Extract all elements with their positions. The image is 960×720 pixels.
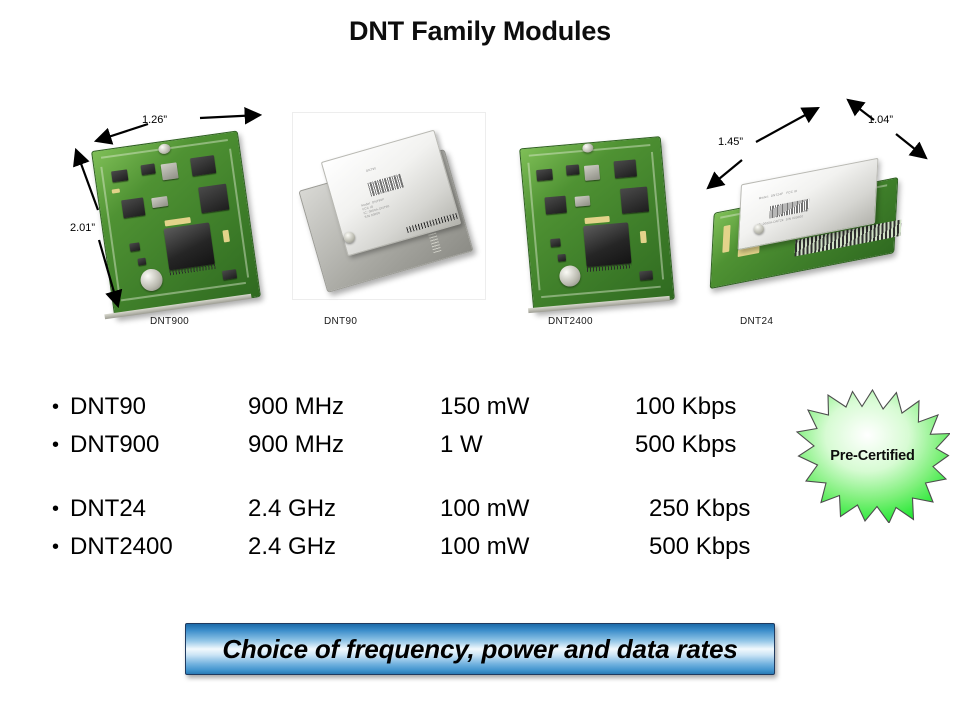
starburst-icon — [795, 388, 950, 523]
spec-frequency: 2.4 GHz — [248, 528, 336, 566]
spec-model: DNT24 — [70, 490, 146, 528]
bullet-icon: • — [52, 426, 68, 464]
spec-data-rate: 250 Kbps — [649, 490, 750, 528]
spec-frequency: 2.4 GHz — [248, 490, 336, 528]
module-caption-dnt2400: DNT2400 — [548, 316, 593, 327]
dnt24-height-dimension-arrow — [838, 96, 948, 176]
spec-row-spacer — [52, 464, 792, 490]
dnt24-height-label: 1.04” — [868, 114, 893, 126]
spec-frequency: 900 MHz — [248, 426, 344, 464]
module-caption-dnt90: DNT90 — [324, 316, 357, 327]
spec-row-dnt24: • DNT24 2.4 GHz 100 mW 250 Kbps — [52, 490, 792, 528]
module-dnt900[interactable]: 1.26” 2.01” DNT900 — [60, 96, 290, 336]
spec-model: DNT90 — [70, 388, 146, 426]
pre-certified-badge: Pre-Certified — [795, 388, 950, 523]
spec-power: 150 mW — [440, 388, 529, 426]
module-caption-dnt24: DNT24 — [740, 316, 773, 327]
module-gallery: 1.26” 2.01” DNT900 — [0, 96, 960, 336]
slide-canvas: DNT Family Modules — [0, 0, 960, 720]
dnt2400-board-image — [522, 140, 682, 320]
spec-data-rate: 500 Kbps — [649, 528, 750, 566]
bullet-icon: • — [52, 490, 68, 528]
spec-row-dnt2400: • DNT2400 2.4 GHz 100 mW 500 Kbps — [52, 528, 792, 566]
dnt900-height-label: 2.01” — [70, 222, 95, 234]
spec-frequency: 900 MHz — [248, 388, 344, 426]
spec-data-rate: 500 Kbps — [635, 426, 736, 464]
page-title: DNT Family Modules — [0, 16, 960, 47]
dnt900-width-dimension-arrow — [88, 114, 268, 148]
bullet-icon: • — [52, 388, 68, 426]
spec-row-dnt900: • DNT900 900 MHz 1 W 500 Kbps — [52, 426, 792, 464]
spec-data-rate: 100 Kbps — [635, 388, 736, 426]
module-dnt24[interactable]: Model: DNT24P FCC ID IC: 0000A-DNT24 S/N… — [700, 96, 950, 336]
module-dnt2400[interactable]: DNT2400 — [510, 96, 700, 336]
dnt24-width-dimension-arrow — [704, 102, 844, 212]
spec-model: DNT2400 — [70, 528, 173, 566]
spec-power: 100 mW — [440, 490, 529, 528]
spec-power: 100 mW — [440, 528, 529, 566]
bullet-icon: • — [52, 528, 68, 566]
tagline-banner: Choice of frequency, power and data rate… — [185, 623, 775, 675]
dnt24-width-label: 1.45” — [718, 136, 743, 148]
module-dnt90[interactable]: DNT90 Model DNT90PFCC IDIC: 0000A-DNT90S… — [288, 96, 498, 336]
dnt900-width-label: 1.26” — [142, 114, 167, 126]
spec-power: 1 W — [440, 426, 483, 464]
dnt90-board-image: DNT90 Model DNT90PFCC IDIC: 0000A-DNT90S… — [310, 134, 470, 284]
module-spec-list: • DNT90 900 MHz 150 mW 100 Kbps • DNT900… — [52, 388, 792, 566]
spec-row-dnt90: • DNT90 900 MHz 150 mW 100 Kbps — [52, 388, 792, 426]
module-caption-dnt900: DNT900 — [150, 316, 189, 327]
spec-model: DNT900 — [70, 426, 159, 464]
tagline-text: Choice of frequency, power and data rate… — [222, 634, 737, 665]
